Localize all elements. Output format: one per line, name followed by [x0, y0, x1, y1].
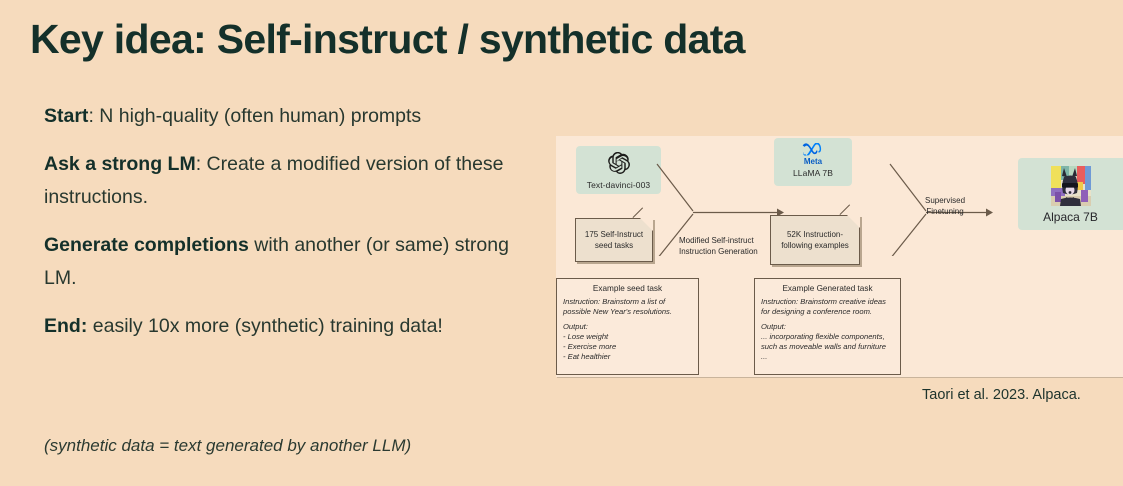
example-generated-instruction: Instruction: Brainstorm creative ideas f… — [761, 297, 894, 317]
bullet-ask: Ask a strong LM: Create a modified versi… — [44, 148, 544, 214]
doc-box-instruction-examples: 52K Instruction-following examples — [770, 215, 860, 265]
model-label-llama: LLaMA 7B — [774, 168, 852, 178]
example-box-seed-task: Example seed task Instruction: Brainstor… — [556, 278, 699, 375]
alpaca-avatar-icon — [1018, 158, 1123, 206]
doc-box-instruction-examples-label: 52K Instruction-following examples — [775, 229, 855, 251]
example-generated-title: Example Generated task — [761, 284, 894, 293]
bullet-start-text: N high-quality (often human) prompts — [99, 105, 421, 127]
example-box-generated-task: Example Generated task Instruction: Brai… — [754, 278, 901, 375]
example-seed-instruction: Instruction: Brainstorm a list of possib… — [563, 297, 692, 317]
example-seed-output-line-1: - Lose weight — [563, 332, 692, 342]
model-label-alpaca: Alpaca 7B — [1018, 210, 1123, 224]
model-box-llama: Meta LLaMA 7B — [774, 138, 852, 186]
alpaca-pipeline-diagram: Text-davinci-003 175 Self-Instruct seed … — [556, 136, 1123, 377]
example-seed-instruction-label: Instruction: — [563, 297, 600, 306]
bullet-end: End: easily 10x more (synthetic) trainin… — [44, 310, 544, 343]
bullet-end-text: easily 10x more (synthetic) training dat… — [93, 315, 443, 337]
example-seed-title: Example seed task — [563, 284, 692, 293]
example-seed-output-line-3: - Eat healthier — [563, 352, 692, 362]
bullet-start: Start: N high-quality (often human) prom… — [44, 100, 544, 133]
bullet-start-sep: : — [88, 105, 99, 127]
footnote: (synthetic data = text generated by anot… — [44, 436, 411, 456]
bullet-end-lead: End: — [44, 315, 87, 337]
meta-logo-icon — [774, 138, 852, 158]
doc-box-seed-tasks: 175 Self-Instruct seed tasks — [575, 218, 653, 262]
example-seed-output-line-2: - Exercise more — [563, 342, 692, 352]
bullet-generate-lead: Generate completions — [44, 234, 249, 256]
example-generated-output-label: Output: — [761, 322, 894, 332]
model-label-text-davinci: Text-davinci-003 — [576, 180, 661, 190]
bullet-ask-sep: : — [196, 153, 207, 175]
connector-supervised-finetuning: Supervised Finetuning — [888, 156, 998, 256]
bullet-generate: Generate completions with another (or sa… — [44, 229, 544, 295]
connector-label-modified-self-instruct: Modified Self-instruct Instruction Gener… — [679, 236, 758, 257]
meta-wordmark: Meta — [774, 157, 852, 166]
model-box-alpaca: Alpaca 7B — [1018, 158, 1123, 230]
connector-label-supervised-finetuning: Supervised Finetuning — [925, 196, 965, 217]
citation: Taori et al. 2023. Alpaca. — [922, 387, 1081, 403]
page-title: Key idea: Self-instruct / synthetic data — [30, 16, 745, 63]
model-box-text-davinci: Text-davinci-003 — [576, 146, 661, 194]
doc-box-seed-tasks-label: 175 Self-Instruct seed tasks — [580, 229, 648, 251]
bullet-ask-lead: Ask a strong LM — [44, 153, 196, 175]
example-seed-output-label: Output: — [563, 322, 692, 332]
openai-logo-icon — [576, 146, 661, 179]
slide-canvas: Key idea: Self-instruct / synthetic data… — [0, 0, 1123, 486]
example-generated-instruction-label: Instruction: — [761, 297, 798, 306]
bullet-list: Start: N high-quality (often human) prom… — [44, 100, 544, 358]
example-generated-output-line-1: ... incorporating flexible components, s… — [761, 332, 894, 362]
connector-modified-self-instruct: Modified Self-instruct Instruction Gener… — [655, 156, 785, 256]
bullet-start-lead: Start — [44, 105, 88, 127]
